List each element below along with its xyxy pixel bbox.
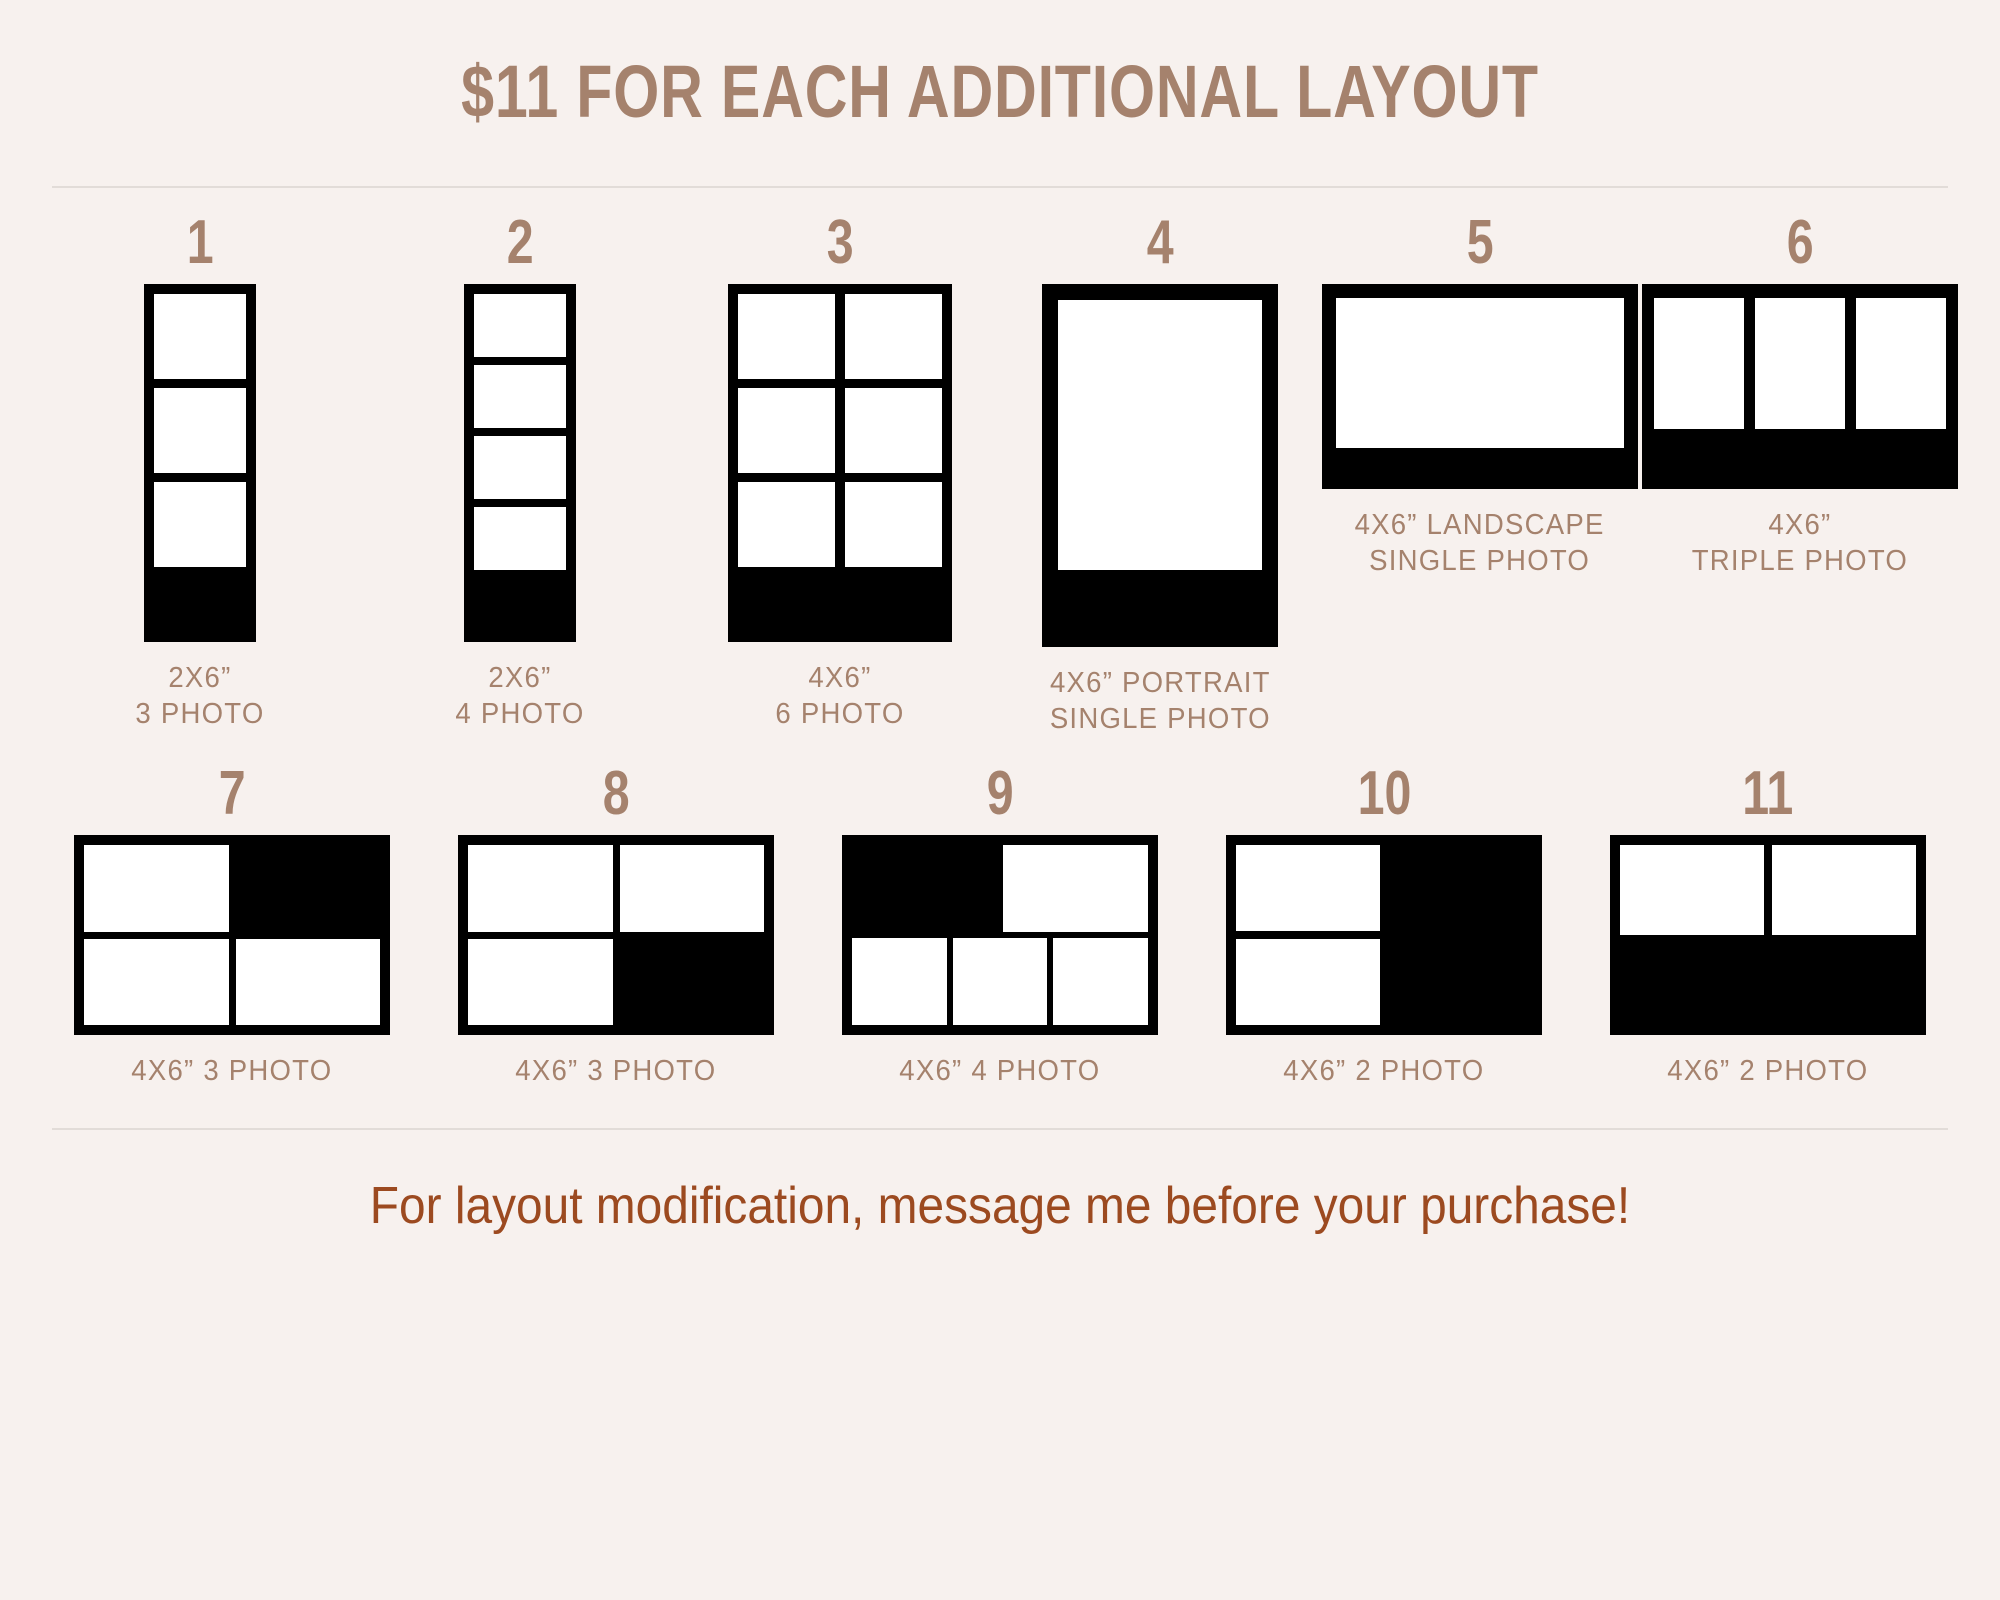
page-title: $11 FOR EACH ADDITIONAL LAYOUT: [200, 52, 1800, 132]
layout-caption: 4X6” 3 PHOTO: [131, 1053, 332, 1089]
layout-caption: 4X6” 4 PHOTO: [899, 1053, 1100, 1089]
photo-cell: [236, 939, 381, 1026]
print-board: [74, 835, 390, 1035]
layout-pricing-page: $11 FOR EACH ADDITIONAL LAYOUT 1 2X6: [0, 0, 2000, 1600]
layout-thumbnail-10: [1226, 835, 1542, 1035]
print-board: [458, 835, 774, 1035]
layout-number: 3: [827, 212, 854, 274]
layout-number: 9: [987, 763, 1014, 825]
photo-cell: [84, 939, 229, 1026]
footer-note: For layout modification, message me befo…: [80, 1130, 1920, 1236]
layout-thumbnail-3: [728, 284, 952, 642]
photo-cell: [738, 388, 835, 473]
photo-cell: [953, 938, 1048, 1025]
photo-cell-column: [1236, 845, 1380, 1025]
photo-cell: [154, 482, 246, 567]
layout-caption: 2X6” 4 PHOTO: [455, 660, 584, 733]
layout-number: 11: [1742, 763, 1793, 825]
photo-cell: [474, 365, 566, 428]
photo-cell: [1654, 298, 1744, 429]
photo-cells: [474, 294, 566, 578]
photo-cell-row: [852, 938, 1148, 1025]
blank-cell: [1620, 935, 1916, 1025]
photo-cell-row: [84, 845, 380, 932]
layout-card-7[interactable]: 7 4X6” 3 PHOTO: [40, 763, 424, 1089]
layout-thumbnail-1: [144, 284, 256, 642]
photo-cell: [1755, 298, 1845, 429]
layout-card-6[interactable]: 6 4X6” TRIPLE PHOTO: [1640, 212, 1960, 580]
photo-cell: [1620, 845, 1764, 935]
blank-row: [1620, 935, 1916, 1025]
layout-thumbnail-9: [842, 835, 1158, 1035]
layout-caption: 4X6” 6 PHOTO: [775, 660, 904, 733]
photo-cell: [1856, 298, 1946, 429]
photo-cell-row: [84, 939, 380, 1026]
photo-cell: [845, 294, 942, 379]
layout-number: 10: [1357, 763, 1411, 825]
layout-number: 2: [507, 212, 534, 274]
photo-cell: [468, 845, 613, 932]
photo-cell: [154, 388, 246, 473]
photo-cell: [474, 436, 566, 499]
photo-cell: [1053, 938, 1148, 1025]
photo-cell-row: [468, 939, 764, 1026]
print-board: [144, 284, 256, 642]
layout-card-2[interactable]: 2 2X6” 4 PHOTO: [360, 212, 680, 733]
photo-cells: [154, 294, 246, 576]
photo-cell-row: [1620, 845, 1916, 935]
layout-number: 6: [1787, 212, 1814, 274]
print-board: [728, 284, 952, 642]
layout-caption: 4X6” TRIPLE PHOTO: [1692, 507, 1908, 580]
layout-thumbnail-4: [1042, 284, 1278, 647]
photo-cell-row: [738, 388, 942, 473]
layout-card-3[interactable]: 3: [680, 212, 1000, 733]
layout-thumbnail-6: [1642, 284, 1958, 489]
layout-row-1: 1 2X6” 3 PHOTO 2: [40, 188, 1960, 738]
photo-cell-row: [852, 845, 1148, 932]
layout-card-8[interactable]: 8 4X6” 3 PHOTO: [424, 763, 808, 1089]
layout-caption: 4X6” LANDSCAPE SINGLE PHOTO: [1355, 507, 1605, 580]
layout-row-2: 7 4X6” 3 PHOTO: [40, 737, 1960, 1089]
print-board: [1322, 284, 1638, 489]
photo-cell: [852, 938, 947, 1025]
layout-number: 1: [187, 212, 214, 274]
layout-card-9[interactable]: 9 4X6” 4 PHOTO: [808, 763, 1192, 1089]
layout-card-11[interactable]: 11 4X6” 2 PHOTO: [1576, 763, 1960, 1089]
blank-column: [1388, 845, 1532, 1025]
print-board: [1610, 835, 1926, 1035]
print-board: [1642, 284, 1958, 489]
layout-card-5[interactable]: 5 4X6” LANDSCAPE SINGLE PHOTO: [1320, 212, 1640, 580]
photo-cell: [468, 939, 613, 1026]
blank-cell: [620, 939, 765, 1026]
layout-thumbnail-2: [464, 284, 576, 642]
blank-cell: [852, 845, 997, 932]
photo-cell-row: [738, 482, 942, 567]
photo-cell-row: [468, 845, 764, 932]
blank-cell: [1388, 845, 1532, 1025]
layout-caption: 4X6” 3 PHOTO: [515, 1053, 716, 1089]
photo-cell: [1058, 300, 1262, 570]
layout-caption: 4X6” 2 PHOTO: [1667, 1053, 1868, 1089]
layout-caption: 4X6” 2 PHOTO: [1283, 1053, 1484, 1089]
photo-cell-row: [1654, 298, 1946, 429]
layout-number: 4: [1147, 212, 1174, 274]
layout-thumbnail-7: [74, 835, 390, 1035]
photo-cell: [474, 294, 566, 357]
photo-cell: [620, 845, 765, 932]
layout-number: 8: [603, 763, 630, 825]
layout-caption: 2X6” 3 PHOTO: [135, 660, 264, 733]
print-board: [1226, 835, 1542, 1035]
photo-cell: [1236, 939, 1380, 1025]
layout-thumbnail-5: [1322, 284, 1638, 489]
photo-cells: [738, 294, 942, 576]
layout-card-1[interactable]: 1 2X6” 3 PHOTO: [40, 212, 360, 733]
photo-cell: [1772, 845, 1916, 935]
layout-card-10[interactable]: 10 4X6” 2 PHOTO: [1192, 763, 1576, 1089]
photo-cell: [154, 294, 246, 379]
photo-cell: [738, 294, 835, 379]
photo-cell: [845, 482, 942, 567]
layout-caption: 4X6” PORTRAIT SINGLE PHOTO: [1050, 665, 1271, 738]
photo-cell: [84, 845, 229, 932]
photo-cell: [845, 388, 942, 473]
layout-number: 5: [1467, 212, 1494, 274]
header: $11 FOR EACH ADDITIONAL LAYOUT: [0, 0, 2000, 132]
photo-cell: [1236, 845, 1380, 931]
layout-thumbnail-11: [1610, 835, 1926, 1035]
photo-cell: [474, 507, 566, 570]
layout-card-4[interactable]: 4 4X6” PORTRAIT SINGLE PHOTO: [1000, 212, 1320, 738]
photo-cell-row: [738, 294, 942, 379]
photo-cell: [1336, 298, 1624, 448]
layout-number: 7: [219, 763, 246, 825]
print-board: [842, 835, 1158, 1035]
layout-thumbnail-8: [458, 835, 774, 1035]
photo-cell: [738, 482, 835, 567]
print-board: [1042, 284, 1278, 647]
layout-gallery: 1 2X6” 3 PHOTO 2: [0, 188, 2000, 1090]
blank-cell: [236, 845, 381, 932]
photo-cell: [1003, 845, 1148, 932]
print-board: [464, 284, 576, 642]
